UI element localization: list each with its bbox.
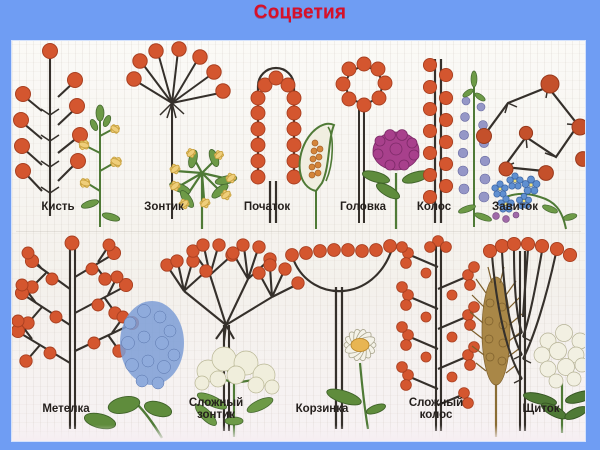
illustration-panel: Кисть Зонтик Початок Головка Колос Завит… (12, 41, 585, 441)
caption-zontik: Зонтик (124, 201, 204, 213)
caption-slozhnyi-kolos: Сложный колос (384, 397, 488, 421)
forget-me-not-flowers (492, 173, 540, 223)
caption-kolos: Колос (401, 201, 467, 213)
chamomile-flower (343, 328, 377, 362)
caption-pochatok: Початок (224, 201, 310, 213)
caption-korzinka: Корзинка (270, 403, 374, 415)
caption-slozhnyi-zontik: Сложный зонтик (162, 397, 270, 421)
caption-golovka: Головка (322, 201, 404, 213)
row-divider (16, 231, 581, 232)
inflorescence-row-bottom: Метелка Сложный зонтик Корзинка Сложный … (12, 233, 585, 441)
slide: Соцветия (0, 0, 600, 450)
caption-shchitok: Щиток (500, 403, 582, 415)
caption-metelka: Метелка (18, 403, 114, 415)
page-title: Соцветия (0, 2, 600, 24)
inflorescence-row-top: Кисть Зонтик Початок Головка Колос Завит… (12, 41, 585, 231)
caption-zavitok: Завиток (470, 201, 560, 213)
caption-kist: Кисть (18, 201, 98, 213)
